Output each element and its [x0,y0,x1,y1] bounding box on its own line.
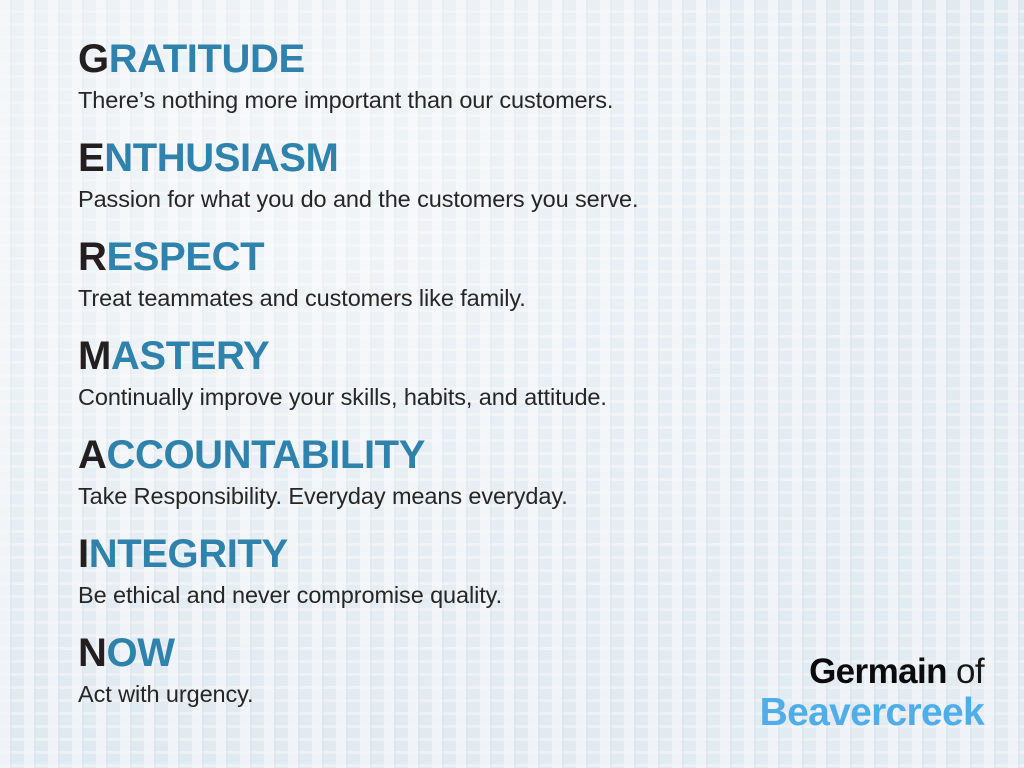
value-subtitle-mastery: Continually improve your skills, habits,… [78,381,958,413]
value-block-accountability: ACCOUNTABILITY Take Responsibility. Ever… [78,432,958,531]
value-subtitle-accountability: Take Responsibility. Everyday means ever… [78,480,958,512]
value-initial-letter: M [78,334,111,378]
value-heading-remainder: RATITUDE [109,37,305,81]
slide-canvas: GRATITUDE There’s nothing more important… [0,0,1024,768]
dealership-logo: Germain of Beavercreek [760,654,984,732]
value-block-respect: RESPECT Treat teammates and customers li… [78,234,958,333]
value-heading-gratitude: GRATITUDE [78,36,958,82]
logo-location-name: Beavercreek [760,693,984,732]
value-subtitle-integrity: Be ethical and never compromise quality. [78,579,958,611]
value-heading-remainder: OW [107,631,175,675]
value-heading-remainder: CCOUNTABILITY [107,433,425,477]
value-initial-letter: A [78,433,107,477]
value-subtitle-gratitude: There’s nothing more important than our … [78,84,958,116]
value-initial-letter: R [78,235,107,279]
value-block-integrity: INTEGRITY Be ethical and never compromis… [78,531,958,630]
value-heading-integrity: INTEGRITY [78,531,958,577]
value-initial-letter: E [78,136,104,180]
value-heading-remainder: NTHUSIASM [104,136,338,180]
value-block-mastery: MASTERY Continually improve your skills,… [78,333,958,432]
value-initial-letter: I [78,532,89,576]
value-heading-respect: RESPECT [78,234,958,280]
value-subtitle-respect: Treat teammates and customers like famil… [78,282,958,314]
value-block-enthusiasm: ENTHUSIASM Passion for what you do and t… [78,135,958,234]
value-heading-accountability: ACCOUNTABILITY [78,432,958,478]
value-subtitle-enthusiasm: Passion for what you do and the customer… [78,183,958,215]
value-initial-letter: N [78,631,107,675]
core-values-list: GRATITUDE There’s nothing more important… [78,36,958,729]
value-heading-remainder: ASTERY [111,334,269,378]
logo-connector-word: of [947,652,984,691]
logo-top-line: Germain of [760,654,984,689]
value-heading-mastery: MASTERY [78,333,958,379]
value-heading-remainder: ESPECT [107,235,265,279]
value-heading-enthusiasm: ENTHUSIASM [78,135,958,181]
logo-brand-name: Germain [809,652,947,691]
value-block-gratitude: GRATITUDE There’s nothing more important… [78,36,958,135]
value-heading-remainder: NTEGRITY [89,532,288,576]
value-initial-letter: G [78,37,109,81]
